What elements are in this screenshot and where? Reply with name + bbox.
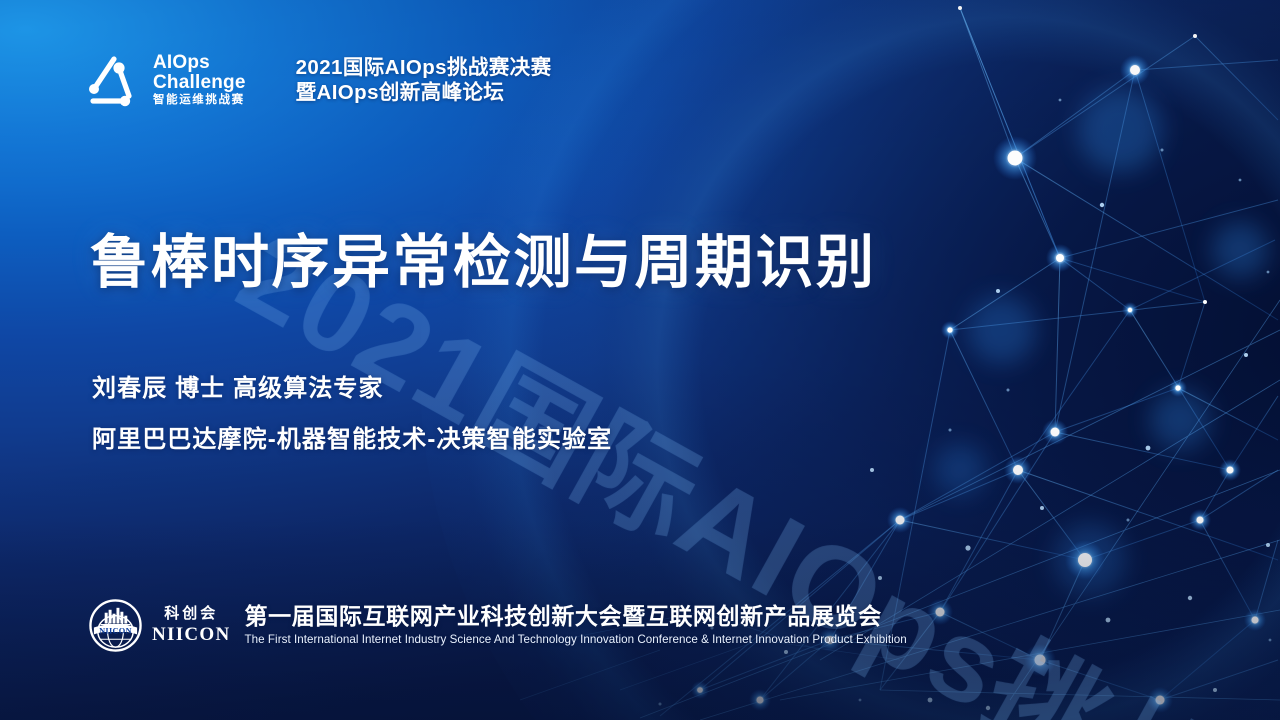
- conference-name-en: The First International Internet Industr…: [245, 634, 907, 647]
- svg-text:NIICON: NIICON: [99, 626, 132, 635]
- speaker-block: 刘春辰 博士 高级算法专家 阿里巴巴达摩院-机器智能技术-决策智能实验室: [92, 368, 612, 454]
- speaker-organization: 阿里巴巴达摩院-机器智能技术-决策智能实验室: [92, 419, 612, 454]
- conference-name-cn: 第一届国际互联网产业科技创新大会暨互联网创新产品展览会: [245, 604, 907, 629]
- niicon-label-en: NIICON: [152, 625, 231, 644]
- logo-line-2: Challenge: [153, 73, 246, 93]
- logo-line-1: AIOps: [153, 53, 246, 73]
- event-title-line-2: 暨AIOps创新高峰论坛: [296, 80, 552, 105]
- event-title: 2021国际AIOps挑战赛决赛 暨AIOps创新高峰论坛: [296, 55, 552, 105]
- niicon-wordmark: 科创会 NIICON: [152, 607, 231, 644]
- slide-title: 鲁棒时序异常检测与周期识别: [90, 231, 877, 296]
- logo-line-cn: 智能运维挑战赛: [153, 95, 246, 107]
- logo-wordmark: AIOps Challenge 智能运维挑战赛: [153, 53, 246, 106]
- conference-name: 第一届国际互联网产业科技创新大会暨互联网创新产品展览会 The First In…: [245, 604, 907, 646]
- header: AIOps Challenge 智能运维挑战赛 2021国际AIOps挑战赛决赛…: [83, 50, 551, 110]
- niicon-label-cn: 科创会: [164, 607, 218, 622]
- speaker-name: 刘春辰 博士 高级算法专家: [92, 368, 612, 403]
- footer: NIICON 科创会 NIICON 第一届国际互联网产业科技创新大会暨互联网创新…: [88, 598, 907, 653]
- event-title-line-1: 2021国际AIOps挑战赛决赛: [296, 55, 552, 80]
- niicon-globe-seal-icon: NIICON: [88, 598, 143, 653]
- presentation-slide: 2021国际AIOps挑战赛 AIOps Challenge 智能运维挑战赛 2…: [0, 0, 1280, 720]
- aiops-challenge-logo-icon: [83, 50, 139, 110]
